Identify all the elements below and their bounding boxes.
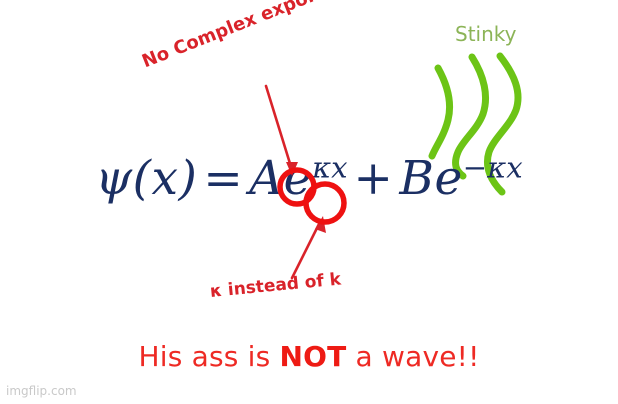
- imgflip-watermark: imgflip.com: [6, 384, 77, 398]
- equation-term2-coefficient: Be: [399, 151, 462, 206]
- equation-lhs: ψ(x): [95, 151, 197, 206]
- equation-equals: =: [197, 151, 249, 206]
- meme-canvas: Stinky No Complex exponential ψ(x)=Aeκx+…: [0, 0, 618, 404]
- equation: ψ(x)=Aeκx+Be−κx: [0, 155, 618, 202]
- caption-emphasis: NOT: [280, 340, 347, 373]
- caption: His ass is NOT a wave!!: [0, 340, 618, 373]
- annotation-no-complex-exponential: No Complex exponential: [139, 0, 377, 72]
- equation-term2-exponent: −κx: [463, 150, 523, 184]
- equation-plus: +: [348, 151, 400, 206]
- stinky-label: Stinky: [455, 22, 516, 46]
- equation-term1-exponent: κx: [312, 150, 348, 184]
- equation-term1-coefficient: Ae: [249, 151, 312, 206]
- caption-before: His ass is: [138, 340, 279, 373]
- caption-after: a wave!!: [346, 340, 479, 373]
- annotation-kappa-instead-of-k: κ instead of k: [209, 269, 342, 302]
- arrow-to-kappa-icon: [292, 216, 326, 278]
